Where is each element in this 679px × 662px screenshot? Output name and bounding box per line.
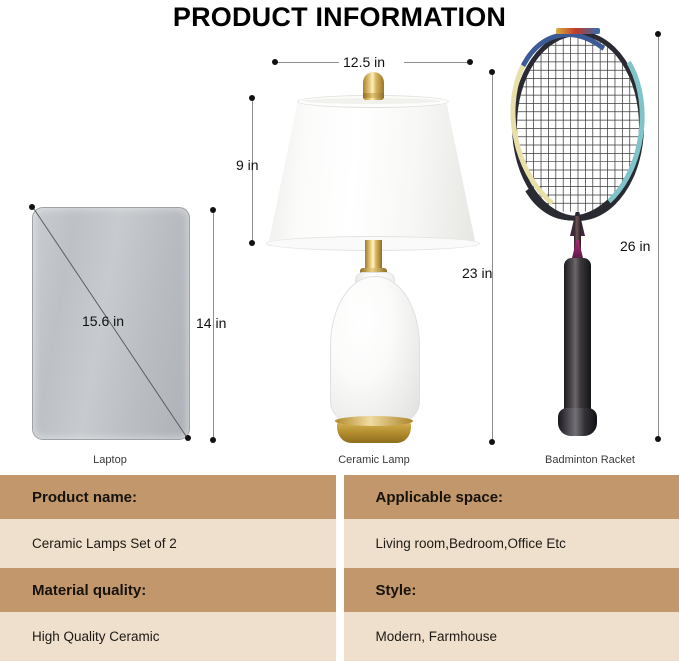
lamp-width-dot-left — [272, 59, 278, 65]
laptop-corner-dot-bottom-right — [185, 435, 191, 441]
lamp-gold-foot-rim — [335, 416, 413, 426]
laptop-height-dot-bottom — [210, 437, 216, 443]
spec-header-product-name: Product name: — [0, 475, 336, 519]
lamp-width-dot-right — [467, 59, 473, 65]
lamp-width-label: 12.5 in — [343, 54, 385, 70]
laptop-corner-dot-top-left — [29, 204, 35, 210]
spec-table: Product name: Ceramic Lamps Set of 2 Mat… — [0, 475, 679, 662]
spec-value-material-quality: High Quality Ceramic — [0, 612, 336, 661]
lamp-total-height-label: 23 in — [462, 265, 492, 281]
laptop-diagonal-label: 15.6 in — [82, 313, 124, 329]
lamp-total-height-line — [492, 72, 493, 442]
spec-value-style: Modern, Farmhouse — [344, 612, 679, 661]
racket-length-label: 26 in — [620, 238, 650, 254]
racket-grip-end-cap — [558, 408, 597, 436]
lamp-finial-band — [363, 93, 384, 98]
spec-value-applicable-space: Living room,Bedroom,Office Etc — [344, 519, 679, 568]
racket-top-logo — [556, 28, 600, 34]
spec-column-left: Product name: Ceramic Lamps Set of 2 Mat… — [0, 475, 336, 662]
lamp-caption: Ceramic Lamp — [312, 454, 436, 466]
spec-value-product-name: Ceramic Lamps Set of 2 — [0, 519, 336, 568]
lamp-total-dot-bottom — [489, 439, 495, 445]
racket-length-dimension-line — [658, 34, 659, 439]
racket-length-dot-bottom — [655, 436, 661, 442]
racket-caption: Badminton Racket — [528, 454, 652, 466]
spec-column-right: Applicable space: Living room,Bedroom,Of… — [344, 475, 679, 662]
spec-header-style: Style: — [344, 568, 679, 612]
lamp-width-line-left — [277, 62, 339, 63]
lamp-ceramic-base — [330, 276, 420, 428]
lamp-shade — [268, 99, 476, 246]
lamp-shade-dot-top — [249, 95, 255, 101]
lamp-width-line-right — [404, 62, 467, 63]
laptop-height-dot-top — [210, 207, 216, 213]
spec-header-applicable-space: Applicable space: — [344, 475, 679, 519]
spec-header-material-quality: Material quality: — [0, 568, 336, 612]
laptop-caption: Laptop — [48, 454, 172, 466]
lamp-shade-dot-bottom — [249, 240, 255, 246]
racket-length-dot-top — [655, 31, 661, 37]
laptop-height-label: 14 in — [196, 315, 226, 331]
lamp-total-dot-top — [489, 69, 495, 75]
racket-grip — [564, 258, 591, 426]
lamp-shade-height-label: 9 in — [236, 157, 259, 173]
